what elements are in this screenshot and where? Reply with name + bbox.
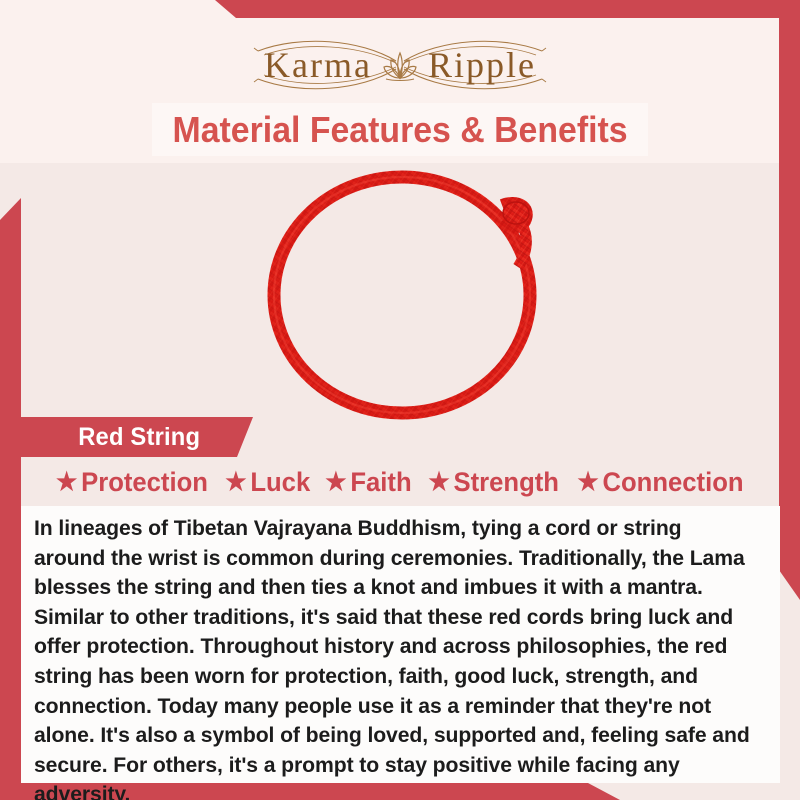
description-text: In lineages of Tibetan Vajrayana Buddhis… <box>34 514 753 800</box>
star-icon: ★ <box>56 470 77 495</box>
feature-item-faith: ★ Faith <box>325 469 411 496</box>
description-card: In lineages of Tibetan Vajrayana Buddhis… <box>21 506 780 783</box>
star-icon: ★ <box>578 470 599 495</box>
page-title: Material Features & Benefits <box>172 109 627 151</box>
feature-label: Protection <box>81 469 208 496</box>
brand-logo: Karma Ripple <box>0 34 800 96</box>
section-ribbon: Red String <box>21 417 253 457</box>
section-ribbon-label: Red String <box>78 423 200 452</box>
star-icon: ★ <box>428 470 449 495</box>
feature-item-protection: ★ Protection <box>56 469 208 496</box>
feature-item-connection: ★ Connection <box>578 469 744 496</box>
feature-list: ★ Protection ★ Luck ★ Faith ★ Strength ★… <box>21 462 779 502</box>
feature-label: Connection <box>603 469 744 496</box>
feature-item-strength: ★ Strength <box>428 469 559 496</box>
brand-word-right: Ripple <box>428 47 536 83</box>
feature-label: Luck <box>250 469 310 496</box>
page-title-band: Material Features & Benefits <box>152 103 648 156</box>
star-icon: ★ <box>325 470 346 495</box>
decor-left-bar <box>0 198 21 800</box>
star-icon: ★ <box>225 470 246 495</box>
brand-word-left: Karma <box>264 47 372 83</box>
feature-item-luck: ★ Luck <box>225 469 310 496</box>
feature-label: Strength <box>454 469 559 496</box>
product-image <box>230 163 590 423</box>
feature-label: Faith <box>350 469 411 496</box>
red-string-bracelet-illustration <box>230 163 590 423</box>
infographic-page: Karma Ripple Material Features & Benefit… <box>0 0 800 800</box>
lotus-icon <box>380 48 420 82</box>
